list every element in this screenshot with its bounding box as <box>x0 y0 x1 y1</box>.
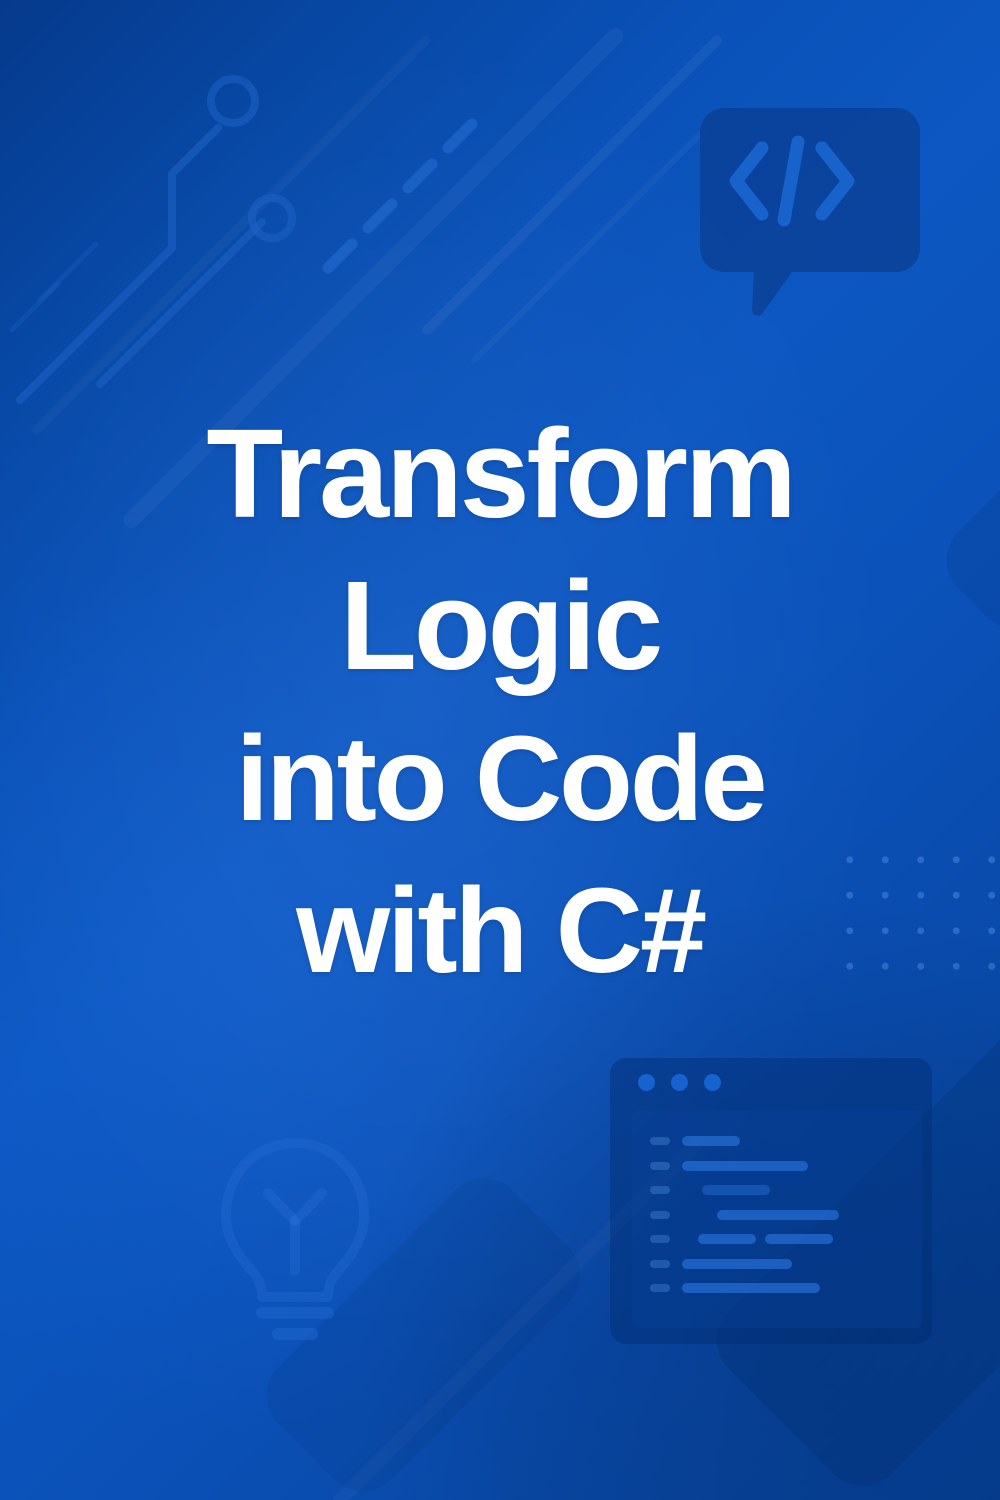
code-line <box>650 1181 922 1199</box>
streak-3 <box>420 33 724 337</box>
code-line <box>650 1255 922 1273</box>
code-token <box>717 1210 839 1220</box>
code-line <box>650 1279 922 1297</box>
code-editor-window <box>610 1058 932 1344</box>
line-number-marker <box>650 1284 670 1292</box>
title-line-1: Transform <box>60 398 940 550</box>
code-line <box>650 1206 922 1224</box>
line-number-marker <box>650 1235 670 1243</box>
lightbulb-shape <box>200 1135 390 1350</box>
code-token <box>682 1161 808 1171</box>
code-speech-bubble <box>700 108 920 323</box>
code-token <box>698 1234 756 1244</box>
code-token <box>765 1234 833 1244</box>
code-token <box>682 1283 820 1293</box>
streak-2 <box>30 34 432 436</box>
window-dot-3[interactable] <box>704 1074 721 1091</box>
code-line <box>650 1230 922 1248</box>
line-number-marker <box>650 1211 670 1219</box>
window-dot-1[interactable] <box>638 1074 655 1091</box>
streak-8 <box>250 1162 596 1500</box>
code-token <box>702 1185 770 1195</box>
line-number-marker <box>650 1162 670 1170</box>
code-line <box>650 1157 922 1175</box>
line-number-marker <box>650 1260 670 1268</box>
editor-title-bar <box>610 1058 932 1106</box>
page-title: Transform Logic into Code with C# <box>0 398 1000 1006</box>
editor-code-area <box>632 1110 922 1328</box>
title-line-2: Logic <box>60 550 940 702</box>
code-token <box>682 1136 740 1146</box>
window-dot-2[interactable] <box>671 1074 688 1091</box>
streak-4 <box>470 127 708 365</box>
line-number-marker <box>650 1137 670 1145</box>
lightbulb-icon <box>200 1135 390 1350</box>
line-number-marker <box>650 1186 670 1194</box>
title-line-3: into Code <box>60 702 940 854</box>
code-line <box>650 1132 922 1150</box>
code-bubble-shape <box>700 108 920 323</box>
code-angle-brackets-icon <box>736 142 848 220</box>
code-token <box>682 1259 792 1269</box>
title-line-4: with C# <box>60 854 940 1006</box>
poster-canvas: Transform Logic into Code with C# <box>0 0 1000 1500</box>
